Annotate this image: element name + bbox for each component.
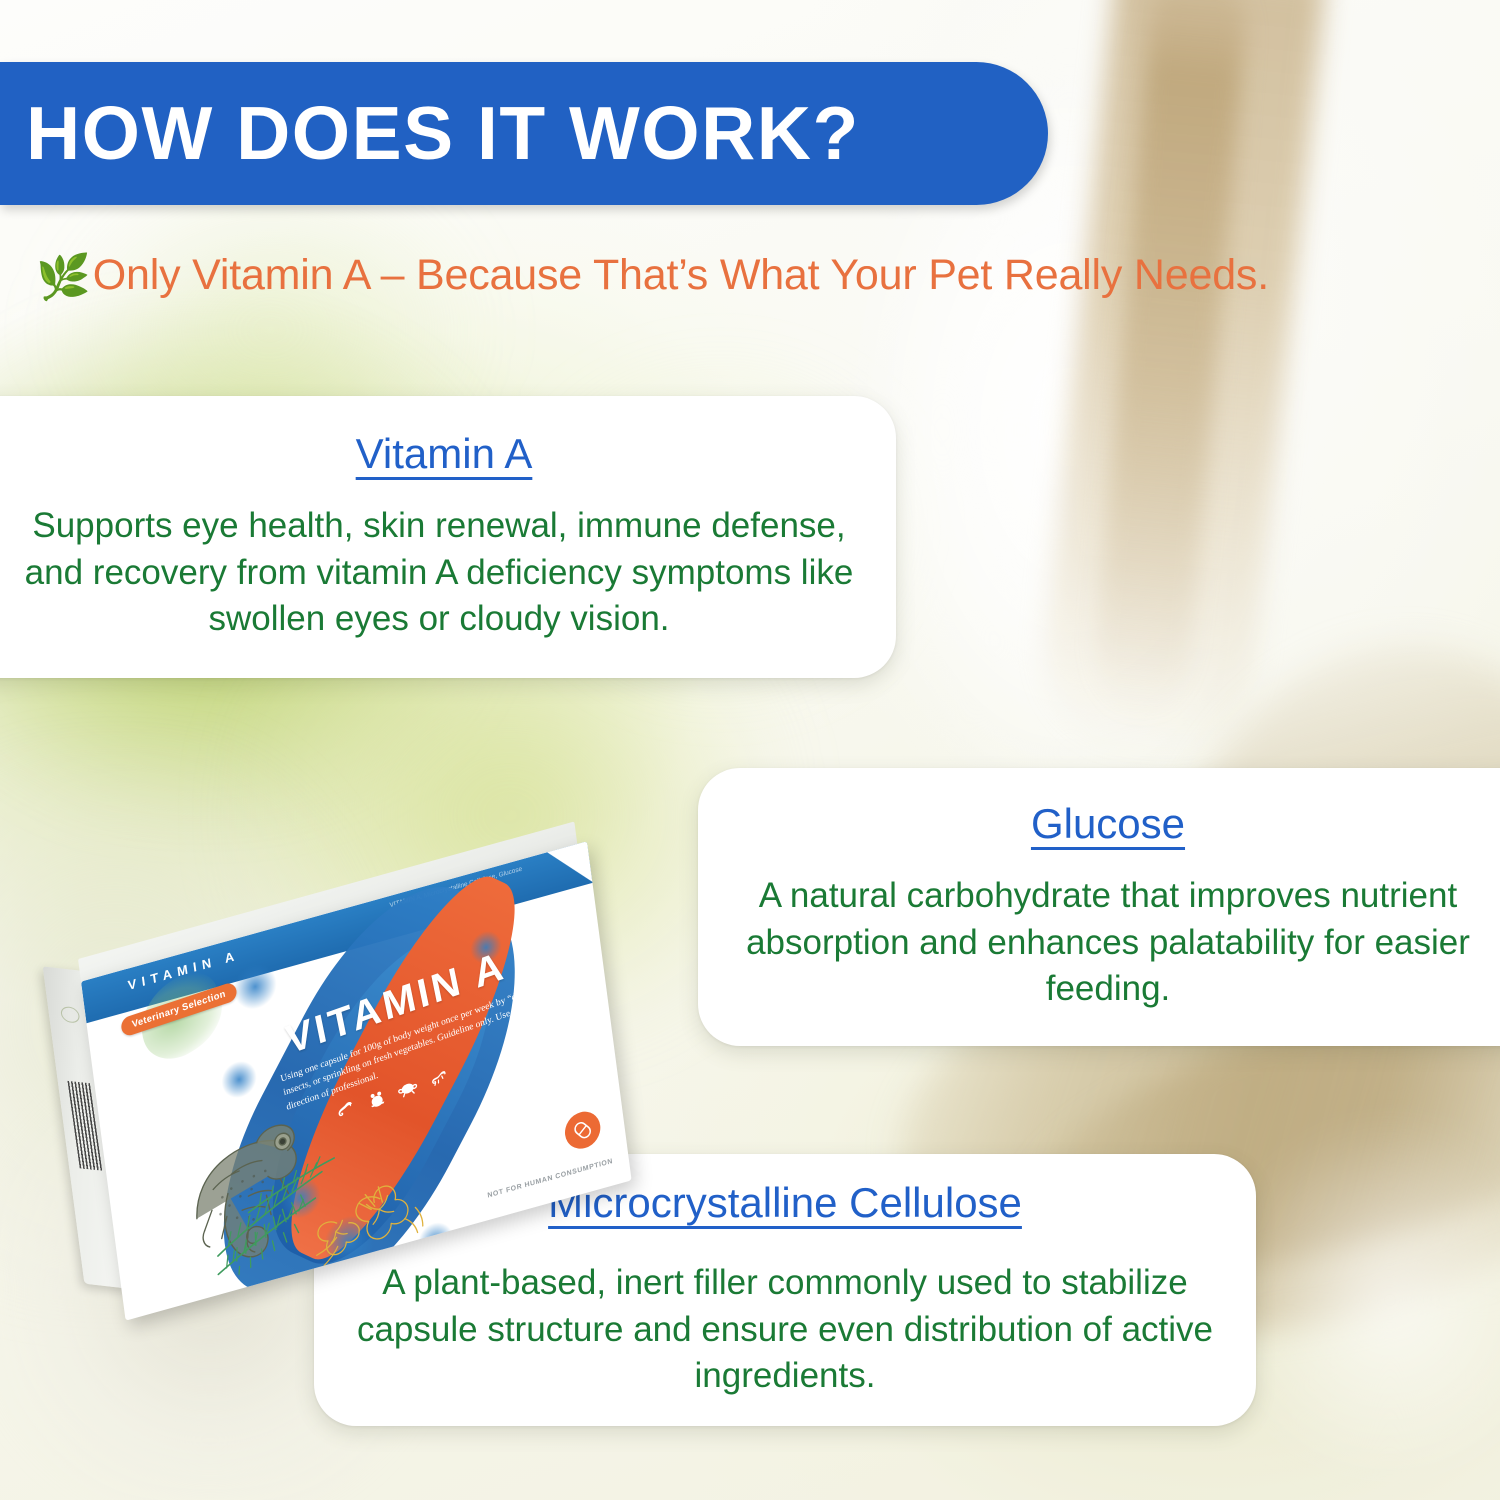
info-card-glucose: Glucose A natural carbohydrate that impr…: [698, 768, 1500, 1046]
background-highlight-bottom: [1220, 1120, 1500, 1480]
herb-leaf-icon: 🌿: [36, 256, 91, 300]
capsule-icon: [563, 1107, 603, 1152]
subtitle-row: 🌿 Only Vitamin A – Because That’s What Y…: [36, 252, 1269, 299]
subtitle-text: Only Vitamin A – Because That’s What You…: [93, 252, 1269, 299]
card-body-cellulose: A plant-based, inert filler commonly use…: [344, 1260, 1226, 1400]
product-box-front-face: VITAMIN A VITAMIN A, Microcrystalline Ce…: [81, 841, 632, 1320]
not-for-human-consumption-note: NOT FOR HUMAN CONSUMPTION: [487, 1158, 613, 1200]
card-body-glucose: A natural carbohydrate that improves nut…: [728, 873, 1488, 1013]
info-card-vitamin-a: Vitamin A Supports eye health, skin rene…: [0, 396, 896, 678]
product-box-image: VITAMIN A VITAMIN A, Microcrystalline Ce…: [30, 827, 650, 1318]
card-title-glucose: Glucose: [1031, 801, 1185, 847]
card-body-vitamin-a: Supports eye health, skin renewal, immun…: [12, 503, 866, 643]
card-title-vitamin-a: Vitamin A: [356, 431, 533, 477]
page-title: HOW DOES IT WORK?: [0, 96, 860, 171]
header-banner: HOW DOES IT WORK?: [0, 62, 1048, 205]
